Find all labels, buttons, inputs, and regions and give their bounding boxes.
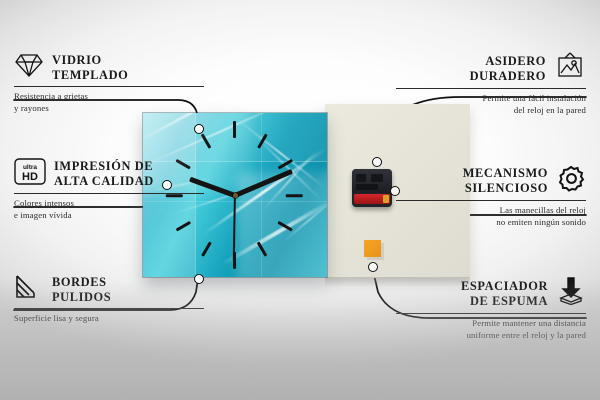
feature-title: ASIDERO DURADERO [470, 54, 546, 83]
feature-desc-line1: Resistencia a grietas [14, 91, 88, 101]
feature-vidrio-templado: VIDRIO TEMPLADO Resistencia a grietas y … [14, 52, 204, 114]
infographic-canvas: VIDRIO TEMPLADO Resistencia a grietas y … [0, 0, 600, 400]
feature-asidero-duradero: ASIDERO DURADERO Permite una fácil insta… [396, 52, 586, 116]
feature-divider [396, 200, 586, 201]
feature-title: MECANISMO SILENCIOSO [463, 166, 548, 195]
clock-tick-12 [233, 121, 236, 138]
feature-divider [14, 86, 204, 87]
clock-second-hand [233, 195, 236, 261]
feature-title-line2: PULIDOS [52, 290, 111, 304]
feature-desc-line1: Permite una fácil instalación [483, 93, 587, 103]
feature-title-line1: BORDES [52, 275, 107, 289]
feature-bordes-pulidos: BORDES PULIDOS Superficie lisa y segura [14, 274, 204, 325]
callout-dot-asidero[interactable] [372, 157, 382, 167]
feature-title-line2: TEMPLADO [52, 68, 128, 82]
feature-desc-line1: Colores intensos [14, 198, 74, 208]
feature-desc-line1: Superficie lisa y segura [14, 313, 99, 323]
feature-title-line1: IMPRESIÓN DE [54, 159, 153, 173]
feature-mecanismo-silencioso: MECANISMO SILENCIOSO Las manecillas del … [396, 164, 586, 228]
feature-title-line2: SILENCIOSO [465, 181, 548, 195]
spacer-arrow-icon [556, 277, 586, 310]
clock-mechanism-icon [352, 169, 392, 207]
callout-dot-espaciador[interactable] [368, 262, 378, 272]
feature-divider [396, 313, 586, 314]
feature-desc-line2: uniforme entre el reloj y la pared [467, 330, 586, 340]
feature-desc-line2: y rayones [14, 103, 49, 113]
feature-title-line1: ESPACIADOR [461, 279, 548, 293]
feature-description: Resistencia a grietas y rayones [14, 91, 204, 114]
feature-description: Permite una fácil instalación del reloj … [396, 93, 586, 116]
feature-divider [14, 193, 204, 194]
feature-title: BORDES PULIDOS [52, 275, 111, 304]
feature-espaciador-de-espuma: ESPACIADOR DE ESPUMA Permite mantener un… [396, 277, 586, 341]
feature-title: VIDRIO TEMPLADO [52, 53, 128, 82]
feature-divider [14, 308, 204, 309]
callout-dot-bordes[interactable] [194, 274, 204, 284]
ultra-hd-icon-top: ultra [23, 164, 37, 171]
feature-title-line2: ALTA CALIDAD [54, 174, 154, 188]
feature-desc-line2: del reloj en la pared [514, 105, 586, 115]
callout-dot-impresion[interactable] [162, 180, 172, 190]
battery-icon [354, 194, 390, 204]
mechanism-detail-3 [356, 184, 378, 190]
clock-center-pin [233, 193, 238, 198]
feature-divider [396, 88, 586, 89]
feature-description: Colores intensos e imagen vívida [14, 198, 204, 221]
diamond-icon [14, 52, 44, 83]
feature-title: IMPRESIÓN DE ALTA CALIDAD [54, 159, 154, 188]
feature-title-line1: MECANISMO [463, 166, 548, 180]
feature-impresion-alta-calidad: ultra HD IMPRESIÓN DE ALTA CALIDAD Color… [14, 158, 204, 221]
feature-desc-line2: no emiten ningún sonido [496, 217, 586, 227]
ultra-hd-icon: ultra HD [14, 158, 46, 190]
feature-desc-line2: e imagen vívida [14, 210, 72, 220]
gear-icon [556, 164, 586, 197]
feature-title-line1: ASIDERO [485, 54, 546, 68]
feature-desc-line1: Permite mantener una distancia [472, 318, 586, 328]
feature-description: Las manecillas del reloj no emiten ningú… [396, 205, 586, 228]
mechanism-detail-2 [371, 174, 383, 182]
feature-title-line1: VIDRIO [52, 53, 102, 67]
clock-tick-3 [286, 194, 303, 197]
hanging-frame-icon [554, 52, 586, 85]
feature-description: Permite mantener una distancia uniforme … [396, 318, 586, 341]
ultra-hd-icon-main: HD [22, 171, 38, 183]
mechanism-detail-1 [356, 174, 366, 182]
feature-description: Superficie lisa y segura [14, 313, 204, 325]
clock-tick-7 [201, 241, 211, 256]
callout-dot-vidrio-templado[interactable] [194, 124, 204, 134]
feature-title-line2: DE ESPUMA [470, 294, 548, 308]
feature-desc-line1: Las manecillas del reloj [500, 205, 586, 215]
feature-title-line2: DURADERO [470, 69, 546, 83]
foam-spacer-swatch [364, 240, 381, 257]
callout-dot-mecanismo[interactable] [390, 186, 400, 196]
feature-title: ESPACIADOR DE ESPUMA [461, 279, 548, 308]
polished-edges-icon [14, 274, 44, 305]
